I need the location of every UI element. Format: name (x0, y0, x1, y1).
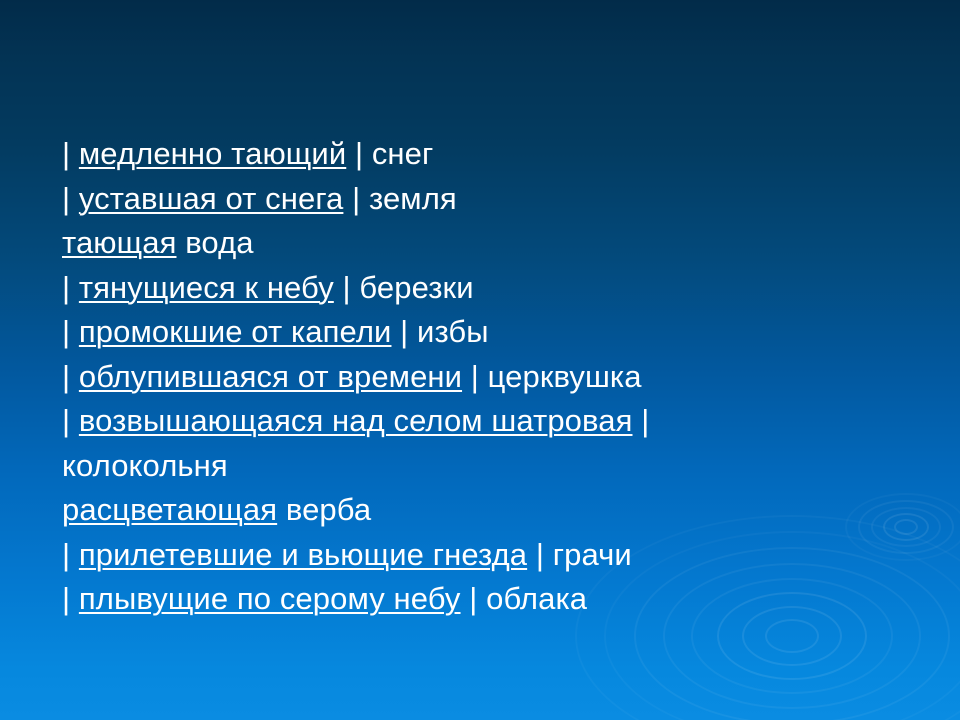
plain-text: | земля (343, 181, 456, 216)
plain-text: | (632, 403, 649, 438)
underlined-phrase: облупившаяся от времени (79, 359, 462, 394)
plain-text: | (62, 181, 79, 216)
plain-text: | снег (346, 136, 433, 171)
underlined-phrase: расцветающая (62, 492, 277, 527)
plain-text: | (62, 359, 79, 394)
text-line: | медленно тающий | снег (62, 132, 942, 177)
plain-text: | (62, 136, 79, 171)
plain-text: | (62, 314, 79, 349)
text-line: | тянущиеся к небу | березки (62, 266, 942, 311)
text-line: | облупившаяся от времени | церквушка (62, 355, 942, 400)
slide-text-block: | медленно тающий | снег| уставшая от сн… (62, 132, 942, 622)
underlined-phrase: тающая (62, 225, 176, 260)
plain-text: | (62, 403, 79, 438)
plain-text: | (62, 270, 79, 305)
underlined-phrase: медленно тающий (79, 136, 346, 171)
text-line: | плывущие по серому небу | облака (62, 577, 942, 622)
text-line: тающая вода (62, 221, 942, 266)
underlined-phrase: уставшая от снега (79, 181, 344, 216)
underlined-phrase: плывущие по серому небу (79, 581, 461, 616)
text-line: колокольня (62, 444, 942, 489)
plain-text: колокольня (62, 448, 228, 483)
ripple-ring (765, 619, 819, 653)
plain-text: | облака (461, 581, 588, 616)
text-line: | промокшие от капели | избы (62, 310, 942, 355)
underlined-phrase: промокшие от капели (79, 314, 392, 349)
text-line: | возвышающаяся над селом шатровая | (62, 399, 942, 444)
plain-text: | церквушка (462, 359, 642, 394)
plain-text: верба (277, 492, 371, 527)
text-line: | уставшая от снега | земля (62, 177, 942, 222)
plain-text: | березки (334, 270, 474, 305)
underlined-phrase: прилетевшие и вьющие гнезда (79, 537, 527, 572)
plain-text: | (62, 537, 79, 572)
underlined-phrase: возвышающаяся над селом шатровая (79, 403, 633, 438)
underlined-phrase: тянущиеся к небу (79, 270, 334, 305)
plain-text: вода (176, 225, 253, 260)
plain-text: | грачи (527, 537, 632, 572)
plain-text: | избы (391, 314, 488, 349)
presentation-slide: | медленно тающий | снег| уставшая от сн… (0, 0, 960, 720)
plain-text: | (62, 581, 79, 616)
text-line: | прилетевшие и вьющие гнезда | грачи (62, 533, 942, 578)
text-line: расцветающая верба (62, 488, 942, 533)
